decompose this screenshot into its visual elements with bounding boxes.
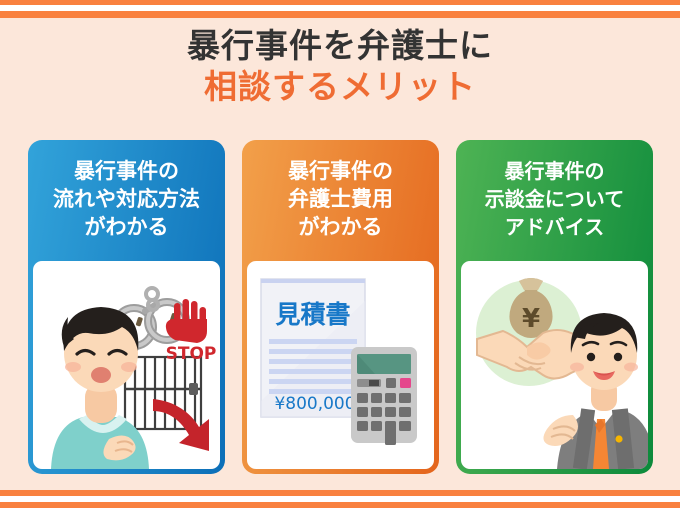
- card-illustration-panel: ¥: [461, 261, 648, 469]
- benefit-card-lawyer-fees[interactable]: 暴行事件の 弁護士費用 がわかる 見積書: [242, 140, 439, 474]
- benefit-card-settlement-advice[interactable]: 暴行事件の 示談金について アドバイス ¥: [456, 140, 653, 474]
- benefit-card-list: 暴行事件の 流れや対応方法 がわかる: [0, 140, 680, 476]
- card-heading-line-1: 暴行事件の: [288, 157, 393, 185]
- handshake-moneybag-lawyer-illustration: ¥: [461, 261, 648, 469]
- estimate-document-icon: 見積書 ¥800,000: [261, 279, 365, 417]
- card-heading-line-1: 暴行事件の: [74, 157, 179, 185]
- bottom-rule-inner: [0, 490, 680, 496]
- card-heading: 暴行事件の 弁護士費用 がわかる: [242, 140, 439, 258]
- card-heading: 暴行事件の 示談金について アドバイス: [456, 140, 653, 258]
- title-line-2: 相談するメリット: [0, 66, 680, 108]
- top-rule-inner: [0, 11, 680, 18]
- stop-label: STOP: [166, 344, 217, 364]
- card-heading-line-2: 弁護士費用: [288, 185, 393, 213]
- document-amount: ¥800,000: [274, 394, 355, 414]
- top-rule-outer: [0, 0, 680, 5]
- card-heading-line-2: 流れや対応方法: [53, 185, 200, 213]
- title-line-1: 暴行事件を弁護士に: [0, 26, 680, 66]
- card-heading-line-1: 暴行事件の: [505, 157, 605, 185]
- card-heading-line-2: 示談金について: [485, 185, 624, 213]
- document-title: 見積書: [275, 300, 350, 329]
- bottom-rule-outer: [0, 502, 680, 508]
- card-heading: 暴行事件の 流れや対応方法 がわかる: [28, 140, 225, 258]
- money-bag-yen-symbol: ¥: [522, 304, 540, 334]
- infographic-page: 暴行事件を弁護士に 相談するメリット 暴行事件の 流れや対応方法 がわかる: [0, 0, 680, 510]
- benefit-card-flow-and-response[interactable]: 暴行事件の 流れや対応方法 がわかる: [28, 140, 225, 474]
- estimate-and-calculator-illustration: 見積書 ¥800,000: [247, 261, 434, 469]
- card-illustration-panel: 見積書 ¥800,000: [247, 261, 434, 469]
- worried-man-handcuffs-stop-jail-illustration: STOP: [33, 261, 220, 469]
- page-title: 暴行事件を弁護士に 相談するメリット: [0, 26, 680, 108]
- calculator-icon: [351, 347, 417, 445]
- card-heading-line-3: アドバイス: [505, 213, 604, 241]
- card-heading-line-3: がわかる: [299, 213, 383, 241]
- card-illustration-panel: STOP: [33, 261, 220, 469]
- card-heading-line-3: がわかる: [85, 213, 169, 241]
